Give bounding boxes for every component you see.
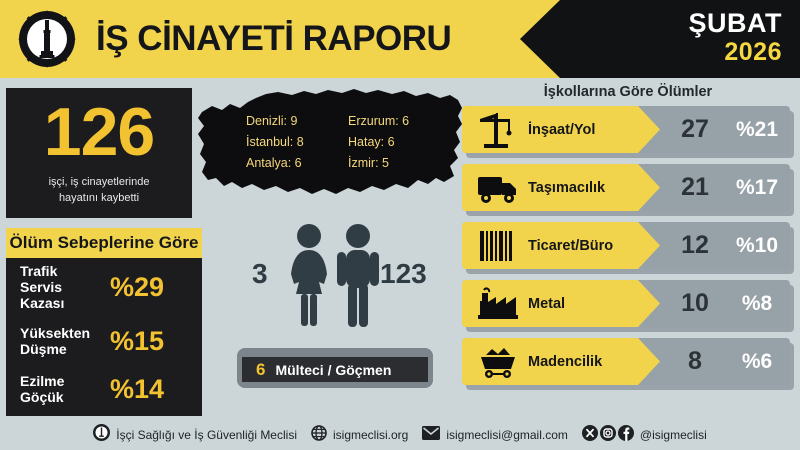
gear-tower-logo-icon	[18, 10, 76, 68]
sector-row: Ticaret/Büro 12 %10	[462, 222, 794, 272]
cause-row: YüksektenDüşme %15	[6, 316, 202, 366]
sector-label: Metal	[528, 296, 565, 312]
sector-count: 10	[662, 280, 728, 327]
envelope-icon	[422, 426, 440, 445]
footer-social[interactable]: @isigmeclisi	[582, 425, 707, 446]
cause-label: EzilmeGöçük	[6, 373, 110, 405]
page-title: İŞ CİNAYETİ RAPORU	[96, 16, 451, 62]
footer-website[interactable]: isigmeclisi.org	[311, 425, 408, 446]
footer-social-handle: @isigmeclisi	[640, 428, 707, 442]
sector-percentage: %8	[724, 280, 790, 327]
crane-icon	[472, 110, 524, 150]
city-entry: İzmir: 5	[348, 153, 409, 174]
gender-breakdown: 3 123	[230, 222, 445, 337]
sectors-panel: İşkollarına Göre Ölümler İn	[458, 84, 798, 414]
cause-label: YüksektenDüşme	[6, 325, 110, 357]
total-deaths-panel: 126 işçi, iş cinayetlerinde hayatını kay…	[6, 88, 192, 218]
refugee-count: 6	[242, 360, 265, 380]
page-footer: İşçi Sağlığı ve İş Güvenliği Meclisi isi…	[0, 420, 800, 450]
city-list-right: Erzurum: 6 Hatay: 6 İzmir: 5	[348, 111, 409, 174]
sector-row-chevron: Taşımacılık	[462, 164, 660, 211]
turkey-map-silhouette	[196, 84, 464, 211]
sector-row-chevron: Ticaret/Büro	[462, 222, 660, 269]
causes-panel: Ölüm Sebeplerine Göre TrafikServisKazası…	[6, 228, 202, 416]
city-entry: Hatay: 6	[348, 132, 409, 153]
sector-row: İnşaat/Yol 27 %21	[462, 106, 794, 156]
sector-percentage: %21	[724, 106, 790, 153]
instagram-icon[interactable]	[600, 425, 616, 446]
footer-org-name: İşçi Sağlığı ve İş Güvenliği Meclisi	[116, 428, 297, 442]
sector-percentage: %17	[724, 164, 790, 211]
sector-percentage: %6	[724, 338, 790, 385]
cause-row: TrafikServisKazası %29	[6, 262, 202, 312]
woman-figure-icon	[286, 222, 332, 332]
factory-icon	[472, 284, 524, 324]
gear-tower-logo-icon	[93, 424, 110, 446]
refugee-label: Mülteci / Göçmen	[265, 362, 391, 378]
sector-label: Madencilik	[528, 354, 602, 370]
man-figure-icon	[334, 222, 382, 332]
sector-row-chevron: Madencilik	[462, 338, 660, 385]
facebook-icon[interactable]	[618, 425, 634, 446]
mine-cart-icon	[472, 342, 524, 382]
sector-row-chevron: İnşaat/Yol	[462, 106, 660, 153]
caption-line-2: hayatını kaybetti	[6, 190, 192, 206]
turkey-map-area: Denizli: 9 İstanbul: 8 Antalya: 6 Erzuru…	[196, 84, 464, 206]
women-count: 3	[252, 258, 268, 290]
sector-label: Taşımacılık	[528, 180, 605, 196]
total-deaths-caption: işçi, iş cinayetlerinde hayatını kaybett…	[6, 174, 192, 206]
sectors-panel-title: İşkollarına Göre Ölümler	[458, 84, 798, 100]
footer-org: İşçi Sağlığı ve İş Güvenliği Meclisi	[93, 424, 297, 446]
social-icon-group	[582, 425, 634, 446]
city-entry: Denizli: 9	[246, 111, 304, 132]
globe-icon	[311, 425, 327, 446]
cause-percentage: %14	[110, 374, 202, 405]
sector-row: Taşımacılık 21 %17	[462, 164, 794, 214]
sector-count: 27	[662, 106, 728, 153]
cause-percentage: %15	[110, 326, 202, 357]
sector-count: 8	[662, 338, 728, 385]
city-entry: İstanbul: 8	[246, 132, 304, 153]
cause-row: EzilmeGöçük %14	[6, 364, 202, 414]
city-entry: Erzurum: 6	[348, 111, 409, 132]
sector-row: Metal 10 %8	[462, 280, 794, 330]
year-label: 2026	[542, 38, 782, 67]
caption-line-1: işçi, iş cinayetlerinde	[6, 174, 192, 190]
sector-percentage: %10	[724, 222, 790, 269]
month-label: ŞUBAT	[542, 8, 782, 39]
page-header: İŞ CİNAYETİ RAPORU ŞUBAT 2026	[0, 0, 800, 78]
sector-count: 21	[662, 164, 728, 211]
refugee-badge-band: 6 Mülteci / Göçmen	[242, 357, 428, 382]
sector-label: Ticaret/Büro	[528, 238, 613, 254]
causes-panel-title: Ölüm Sebeplerine Göre	[6, 228, 202, 258]
barcode-icon	[472, 226, 524, 266]
city-entry: Antalya: 6	[246, 153, 304, 174]
footer-email[interactable]: isigmeclisi@gmail.com	[422, 426, 568, 445]
footer-website-text: isigmeclisi.org	[333, 428, 408, 442]
cause-label: TrafikServisKazası	[6, 263, 110, 311]
x-twitter-icon[interactable]	[582, 425, 598, 446]
truck-icon	[472, 168, 524, 208]
footer-email-text: isigmeclisi@gmail.com	[446, 428, 568, 442]
sector-row-chevron: Metal	[462, 280, 660, 327]
sector-count: 12	[662, 222, 728, 269]
total-deaths-number: 126	[6, 94, 192, 170]
refugee-badge: 6 Mülteci / Göçmen	[237, 348, 433, 388]
sector-row: Madencilik 8 %6	[462, 338, 794, 388]
men-count: 123	[380, 258, 427, 290]
sector-label: İnşaat/Yol	[528, 122, 595, 138]
city-list-left: Denizli: 9 İstanbul: 8 Antalya: 6	[246, 111, 304, 174]
cause-percentage: %29	[110, 272, 202, 303]
